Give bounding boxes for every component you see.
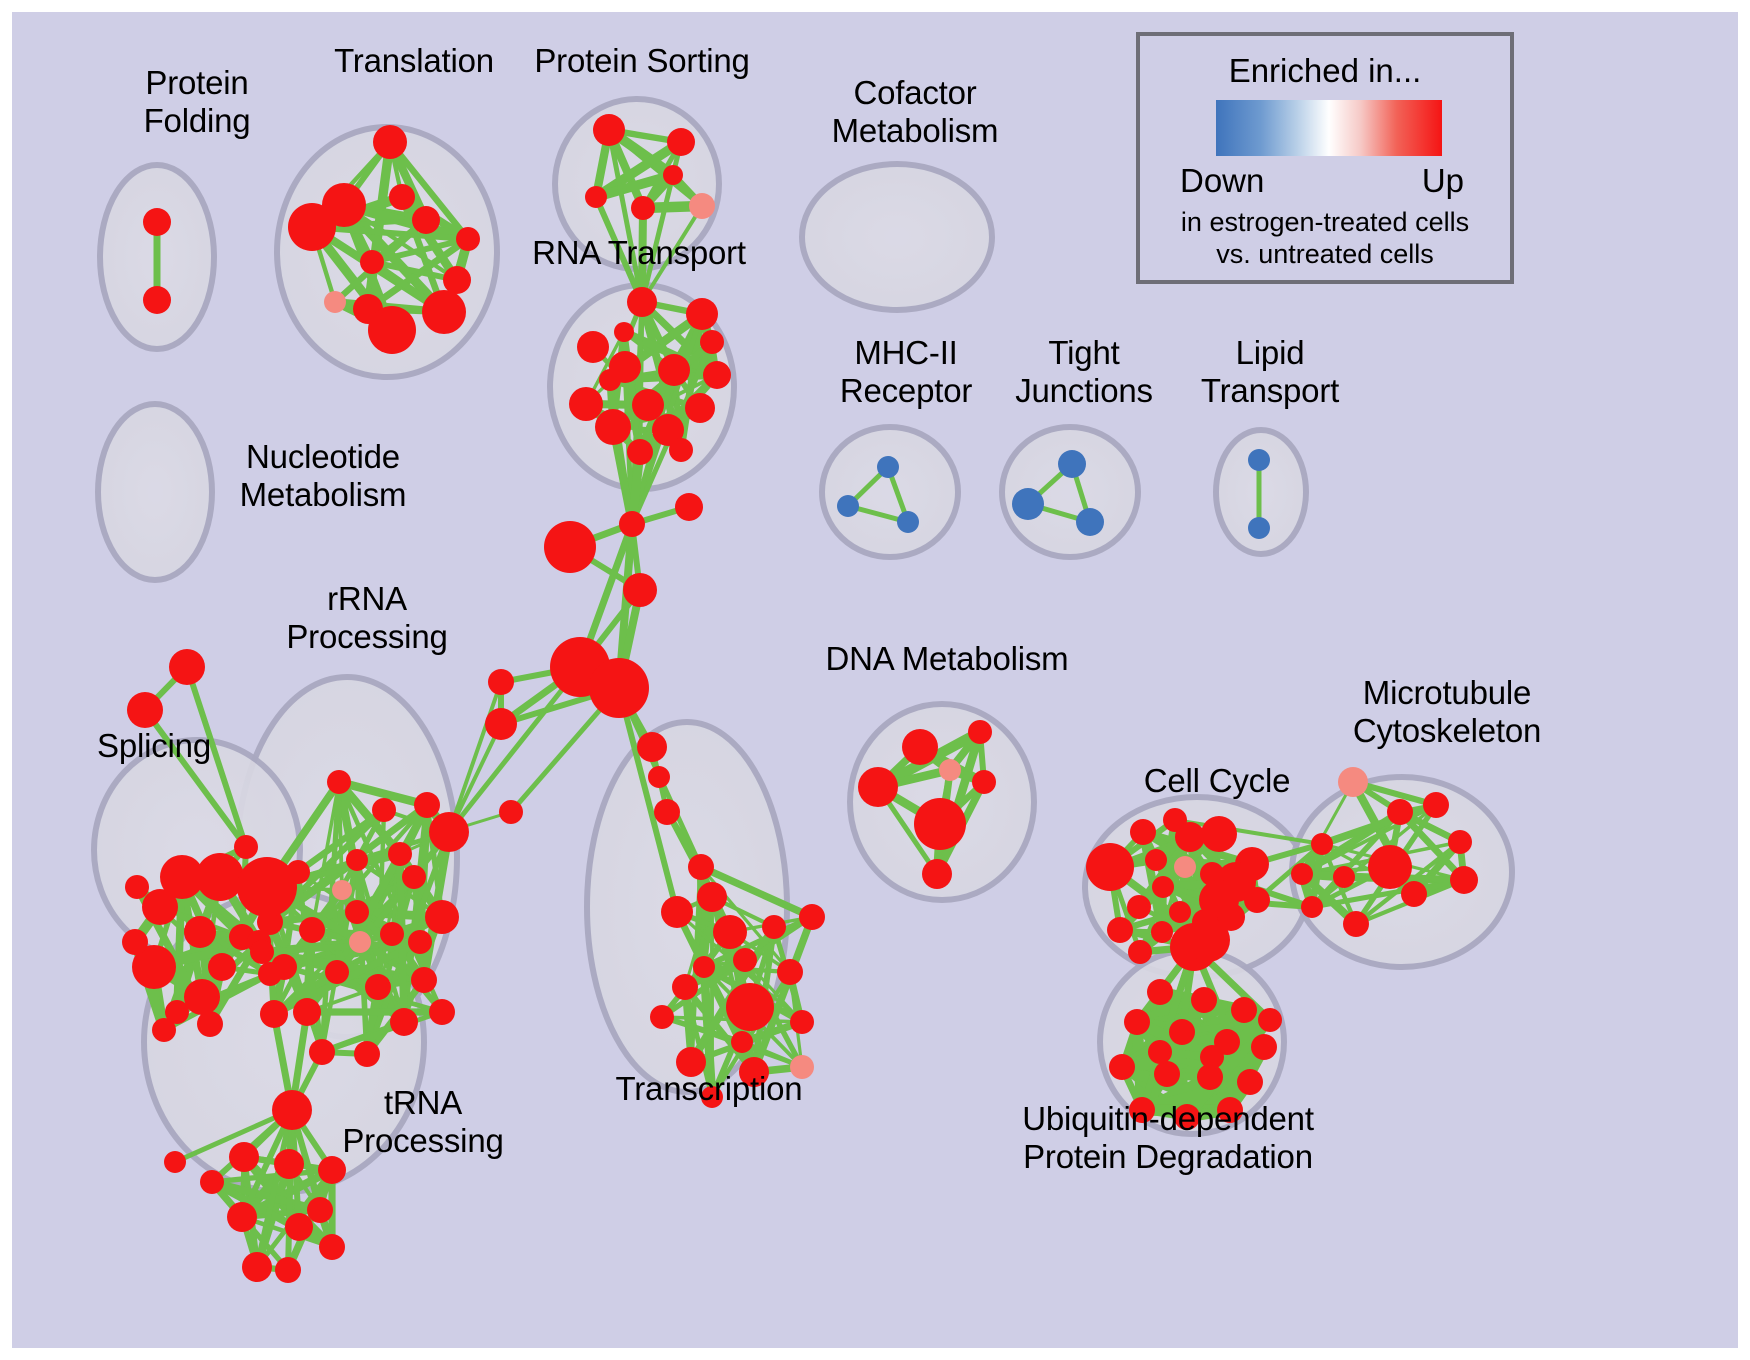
network-node [1130, 819, 1156, 845]
network-node [1368, 845, 1412, 889]
network-node [733, 948, 757, 972]
network-node [858, 767, 898, 807]
network-node [309, 1039, 335, 1065]
network-node [675, 493, 703, 521]
network-node [456, 227, 480, 251]
legend-box: Enriched in... Down Up in estrogen-treat… [1136, 32, 1514, 284]
network-node [184, 916, 216, 948]
legend-color-gradient [1216, 100, 1442, 156]
network-node [325, 960, 349, 984]
network-node [731, 1031, 753, 1053]
network-node [271, 954, 297, 980]
legend-subtitle: in estrogen-treated cells vs. untreated … [1140, 206, 1510, 270]
network-node [327, 770, 351, 794]
network-node [661, 896, 693, 928]
network-node [1248, 517, 1270, 539]
cluster-label-trna-processing: tRNA Processing [308, 1084, 538, 1160]
network-node [1145, 849, 1167, 871]
network-node [443, 266, 471, 294]
network-node [589, 658, 649, 718]
network-node [1401, 881, 1427, 907]
legend-title: Enriched in... [1140, 52, 1510, 90]
network-node [1248, 449, 1270, 471]
network-node [1086, 843, 1134, 891]
network-node [1343, 911, 1369, 937]
network-node [142, 889, 178, 925]
network-node [164, 1151, 186, 1173]
network-node [488, 669, 514, 695]
network-node [663, 165, 683, 185]
network-node [272, 1090, 312, 1130]
network-node [345, 900, 369, 924]
network-node [422, 290, 466, 334]
network-node [425, 900, 459, 934]
network-node [274, 1149, 304, 1179]
network-node [689, 193, 715, 219]
network-node [380, 922, 404, 946]
network-node [1186, 918, 1230, 962]
network-node [122, 929, 148, 955]
network-node [713, 915, 747, 949]
network-node [577, 331, 609, 363]
network-node [1154, 1061, 1180, 1087]
network-node [354, 1041, 380, 1067]
cluster-label-lipid-transport: Lipid Transport [1160, 334, 1380, 410]
network-node [388, 842, 412, 866]
network-node [1338, 767, 1368, 797]
network-node [1012, 488, 1044, 520]
network-node [837, 495, 859, 517]
network-node [1258, 1008, 1282, 1032]
network-node [196, 853, 244, 901]
network-node [293, 998, 321, 1026]
network-node [372, 798, 396, 822]
network-node [627, 287, 657, 317]
network-node [288, 203, 336, 251]
network-node [234, 835, 258, 859]
network-node [1107, 917, 1133, 943]
network-node [1151, 921, 1173, 943]
network-node [299, 917, 325, 943]
cluster-label-rrna-processing: rRNA Processing [252, 580, 482, 656]
network-node [693, 956, 715, 978]
network-node [700, 330, 724, 354]
network-node [632, 389, 664, 421]
network-node [127, 692, 163, 728]
network-node [197, 1011, 223, 1037]
network-node [1147, 979, 1173, 1005]
network-node [286, 860, 310, 884]
network-node [429, 999, 455, 1025]
network-node [242, 1252, 272, 1282]
network-node [569, 387, 603, 421]
network-node [1175, 822, 1205, 852]
network-node [1448, 830, 1472, 854]
network-node [637, 732, 667, 762]
network-node [544, 521, 596, 573]
network-node [650, 1005, 674, 1029]
network-node [349, 931, 371, 953]
network-node [275, 1257, 301, 1283]
network-node [429, 812, 469, 852]
legend-down-label: Down [1180, 162, 1264, 200]
network-node [686, 298, 718, 330]
network-node [1423, 792, 1449, 818]
network-node [365, 974, 391, 1000]
network-node [143, 286, 171, 314]
network-node [1174, 856, 1196, 878]
network-node [658, 354, 690, 386]
network-node [408, 930, 432, 954]
network-node [614, 322, 634, 342]
network-node [623, 573, 657, 607]
network-node [1201, 816, 1237, 852]
network-node [726, 983, 774, 1031]
cluster-label-transcription: Transcription [574, 1070, 844, 1108]
network-node [1169, 1019, 1195, 1045]
network-node [922, 859, 952, 889]
cluster-label-rna-transport: RNA Transport [504, 234, 774, 272]
network-node [697, 882, 727, 912]
network-node [332, 880, 352, 900]
network-node [200, 1170, 224, 1194]
network-node [285, 1213, 313, 1241]
network-node [412, 206, 440, 234]
figure-canvas: Protein FoldingTranslationProtein Sortin… [0, 0, 1750, 1360]
network-node [619, 511, 645, 537]
network-node [1191, 987, 1217, 1013]
cluster-hull-nucleotide-metabolism [98, 404, 212, 580]
network-node [260, 1000, 288, 1028]
network-node [593, 114, 625, 146]
cluster-label-protein-sorting: Protein Sorting [502, 42, 782, 80]
network-node [324, 291, 346, 313]
cluster-label-tight-junctions: Tight Junctions [984, 334, 1184, 410]
network-node [373, 125, 407, 159]
network-node [688, 854, 714, 880]
network-node [319, 1234, 345, 1260]
network-node [1450, 866, 1478, 894]
network-node [360, 250, 384, 274]
network-node [1291, 863, 1313, 885]
network-node [346, 849, 368, 871]
network-node [631, 196, 655, 220]
network-node [599, 369, 621, 391]
cluster-label-mhc-ii-receptor: MHC-II Receptor [796, 334, 1016, 410]
network-node [1244, 887, 1270, 913]
network-node [1301, 896, 1323, 918]
network-node [672, 974, 698, 1000]
network-node [1076, 508, 1104, 536]
network-node [1128, 940, 1152, 964]
network-node [762, 915, 786, 939]
cluster-label-splicing: Splicing [64, 727, 244, 765]
network-node [227, 1202, 257, 1232]
network-node [902, 729, 938, 765]
network-node [685, 393, 715, 423]
network-node [318, 1156, 346, 1184]
network-node [1333, 866, 1355, 888]
network-node [229, 1142, 259, 1172]
cluster-hull-cofactor-metabolism [802, 164, 992, 310]
network-node [1152, 876, 1174, 898]
network-node [914, 798, 966, 850]
network-node [790, 1010, 814, 1034]
network-node [1169, 901, 1191, 923]
cluster-hull-mhc-ii-receptor [822, 427, 958, 557]
cluster-label-protein-folding: Protein Folding [92, 64, 302, 140]
network-node [414, 792, 440, 818]
network-node [390, 1008, 418, 1036]
network-plot-area: Protein FoldingTranslationProtein Sortin… [12, 12, 1738, 1348]
network-node [143, 208, 171, 236]
cluster-label-ubiquitin-degradation: Ubiquitin-dependent Protein Degradation [988, 1100, 1348, 1176]
cluster-label-cell-cycle: Cell Cycle [1102, 762, 1332, 800]
network-node [667, 128, 695, 156]
network-node [1387, 799, 1413, 825]
network-node [184, 979, 220, 1015]
network-node [1251, 1034, 1277, 1060]
network-node [368, 306, 416, 354]
network-node [208, 953, 236, 981]
network-node [777, 959, 803, 985]
network-node [1148, 1040, 1172, 1064]
network-node [152, 1018, 176, 1042]
network-node [627, 439, 653, 465]
legend-up-label: Up [1422, 162, 1464, 200]
network-node [389, 184, 415, 210]
network-node [968, 720, 992, 744]
network-node [1109, 1054, 1135, 1080]
network-node [250, 940, 274, 964]
network-edge [449, 682, 501, 832]
network-node [1231, 997, 1257, 1023]
network-node [1127, 895, 1151, 919]
network-node [595, 409, 631, 445]
network-node [877, 456, 899, 478]
network-node [703, 361, 731, 389]
network-node [485, 708, 517, 740]
network-node [125, 875, 149, 899]
network-node [972, 770, 996, 794]
network-node [1237, 1069, 1263, 1095]
cluster-label-cofactor-metabolism: Cofactor Metabolism [790, 74, 1040, 150]
cluster-label-dna-metabolism: DNA Metabolism [802, 640, 1092, 678]
cluster-label-nucleotide-metabolism: Nucleotide Metabolism [198, 438, 448, 514]
network-node [169, 649, 205, 685]
network-node [1200, 1045, 1224, 1069]
network-node [411, 967, 437, 993]
network-node [1311, 833, 1333, 855]
network-node [499, 800, 523, 824]
network-node [307, 1197, 333, 1223]
network-node [939, 759, 961, 781]
network-node [648, 766, 670, 788]
network-node [669, 438, 693, 462]
network-node [654, 799, 680, 825]
network-node [1124, 1009, 1150, 1035]
cluster-label-microtubule-cytoskeleton: Microtubule Cytoskeleton [1302, 674, 1592, 750]
network-edge [288, 1110, 292, 1270]
network-node [1058, 450, 1086, 478]
network-node [799, 904, 825, 930]
network-node [402, 865, 426, 889]
network-node [897, 511, 919, 533]
network-node [585, 186, 607, 208]
